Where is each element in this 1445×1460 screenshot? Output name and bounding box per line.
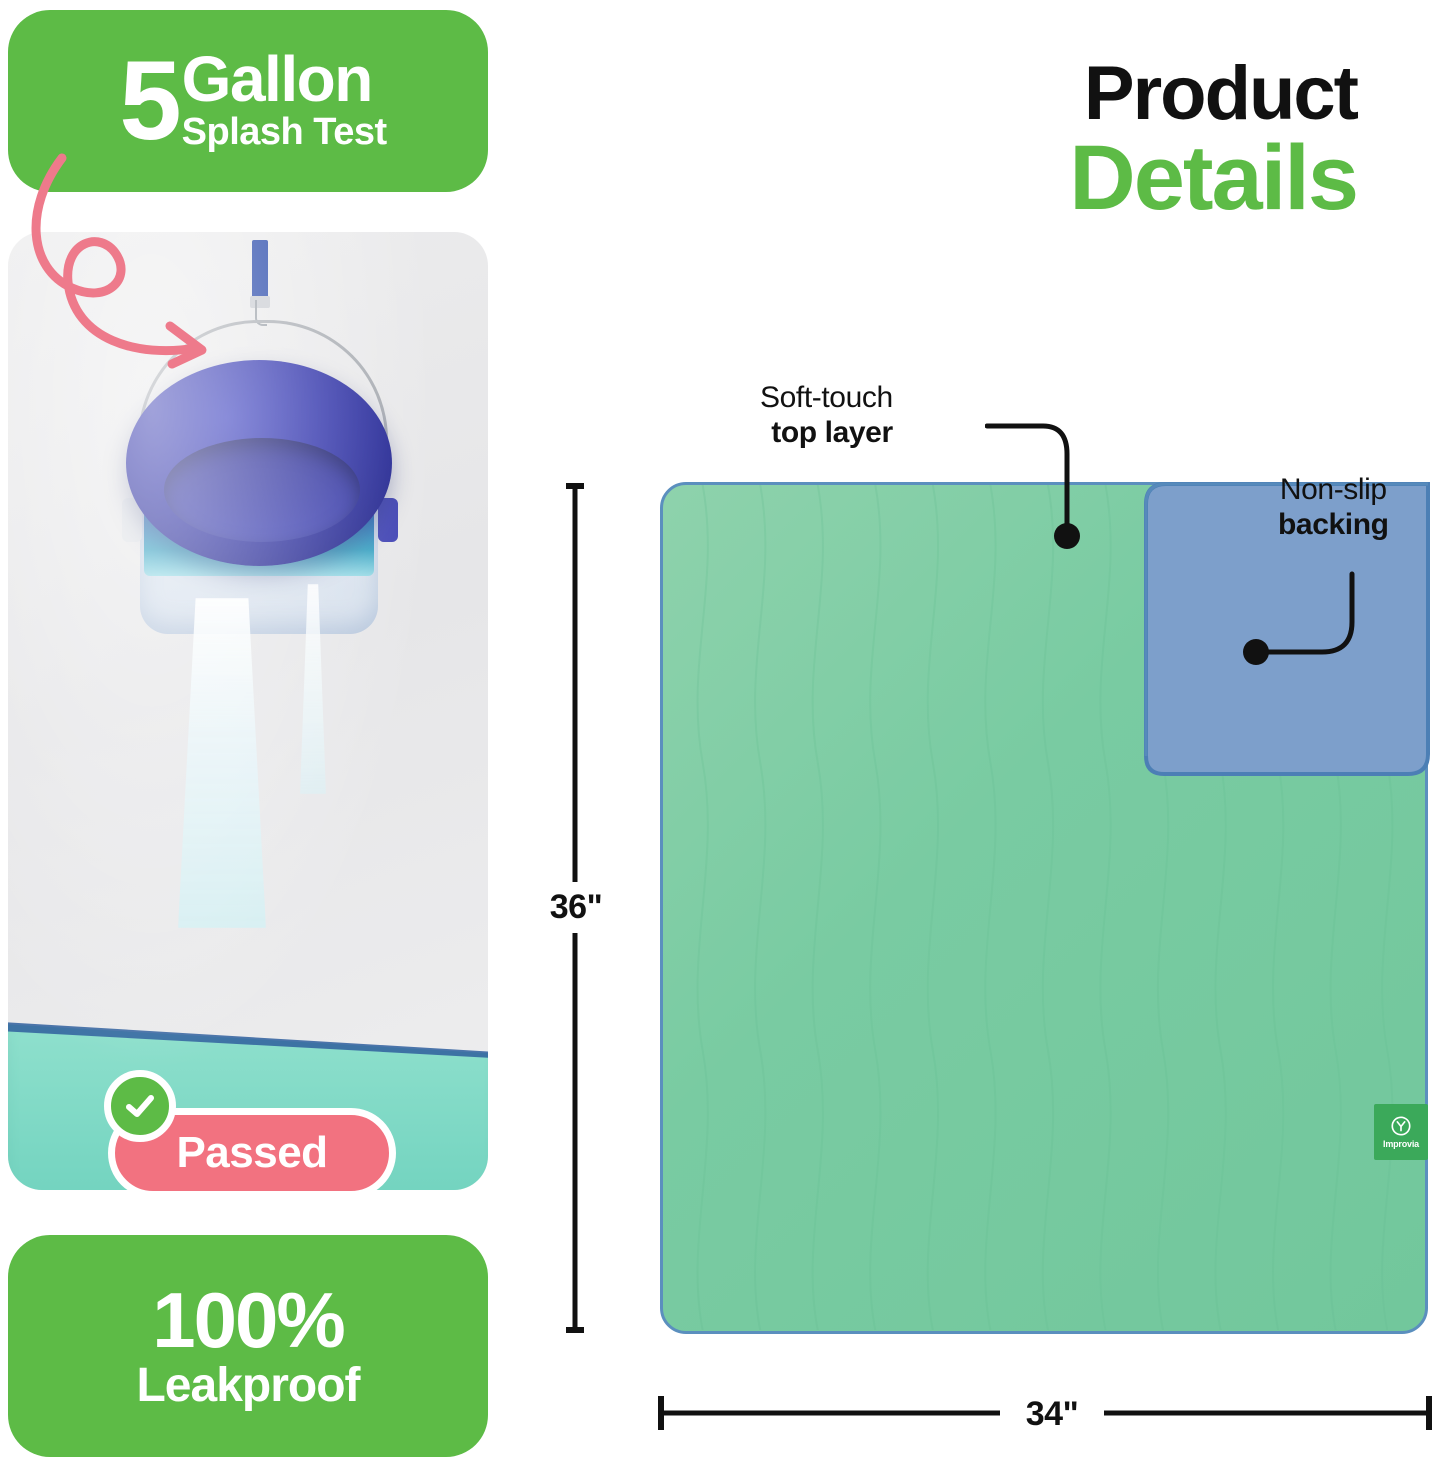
- brand-name: Improvia: [1383, 1139, 1419, 1149]
- callout-nonslip-line2: backing: [1278, 507, 1389, 542]
- height-dimension-label: 36": [530, 882, 622, 933]
- callout-soft-touch: Soft-touch top layer: [760, 380, 893, 451]
- page-title-line2: Details: [1069, 133, 1357, 223]
- bucket-ear-right: [378, 498, 398, 542]
- bucket: [126, 360, 394, 640]
- gallon-number: 5: [119, 51, 177, 152]
- page-title-line1: Product: [1069, 58, 1357, 131]
- splash-test-badge-content: 5 Gallon Splash Test: [109, 48, 386, 155]
- bucket-strap: [252, 240, 268, 298]
- passed-badge: Passed: [108, 1108, 396, 1198]
- page-title: Product Details: [1069, 58, 1357, 223]
- bucket-mouth: [164, 438, 360, 542]
- splash-test-badge-text: Gallon Splash Test: [182, 48, 387, 155]
- leakproof-percent: 100%: [152, 1281, 344, 1359]
- callout-nonslip-line1: Non-slip: [1278, 472, 1389, 507]
- check-icon: [104, 1070, 176, 1142]
- callout-soft-line2: top layer: [760, 415, 893, 450]
- splash-test-photo: [8, 232, 488, 1190]
- check-glyph-icon: [123, 1089, 157, 1123]
- leakproof-label: Leakproof: [136, 1361, 359, 1411]
- passed-label: Passed: [176, 1128, 327, 1178]
- callout-soft-line1: Soft-touch: [760, 380, 893, 415]
- brand-logo-tag: Improvia: [1374, 1104, 1428, 1160]
- leakproof-badge: 100% Leakproof: [8, 1235, 488, 1457]
- splash-test-subtitle: Splash Test: [182, 112, 387, 154]
- splash-test-badge: 5 Gallon Splash Test: [8, 10, 488, 192]
- infographic-canvas: 5 Gallon Splash Test: [0, 0, 1445, 1460]
- width-dimension-label: 34": [1000, 1392, 1104, 1437]
- water-stream: [178, 598, 266, 928]
- gallon-unit-label: Gallon: [182, 48, 387, 111]
- improvia-logo-icon: [1390, 1115, 1412, 1137]
- callout-non-slip: Non-slip backing: [1278, 472, 1389, 543]
